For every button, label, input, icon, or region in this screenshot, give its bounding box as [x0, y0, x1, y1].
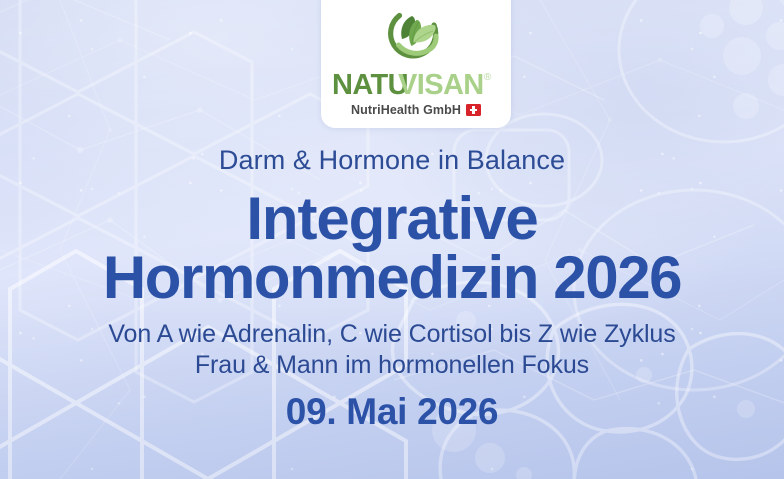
poster-headline: Integrative Hormonmedizin 2026: [0, 189, 784, 308]
wordmark-registered-mark: ®: [484, 72, 492, 83]
natuvisan-wordmark: NATU VISAN ®: [332, 70, 500, 100]
poster-event-date: 09. Mai 2026: [0, 391, 784, 433]
wordmark-visan: VISAN: [398, 70, 484, 100]
swiss-flag-badge-icon: [466, 104, 481, 116]
poster-kicker: Darm & Hormone in Balance: [0, 146, 784, 176]
poster-text-content: Darm & Hormone in Balance Integrative Ho…: [0, 128, 784, 433]
poster-headline-line-1: Integrative: [0, 189, 784, 248]
poster-subline-line-1: Von A wie Adrenalin, C wie Cortisol bis …: [0, 319, 784, 350]
natuvisan-leaf-logo-icon: [379, 6, 453, 68]
brand-tagline: NutriHealth GmbH: [351, 103, 461, 117]
poster-subline-line-2: Frau & Mann im hormonellen Fokus: [0, 350, 784, 381]
poster-subline: Von A wie Adrenalin, C wie Cortisol bis …: [0, 319, 784, 380]
poster-headline-line-2: Hormonmedizin 2026: [0, 248, 784, 307]
wordmark-natu: NATU: [332, 70, 408, 100]
event-poster: NATU VISAN ® NutriHealth GmbH Darm & Hor…: [0, 0, 784, 479]
brand-tagline-row: NutriHealth GmbH: [351, 103, 481, 117]
brand-logo-card: NATU VISAN ® NutriHealth GmbH: [321, 0, 511, 128]
